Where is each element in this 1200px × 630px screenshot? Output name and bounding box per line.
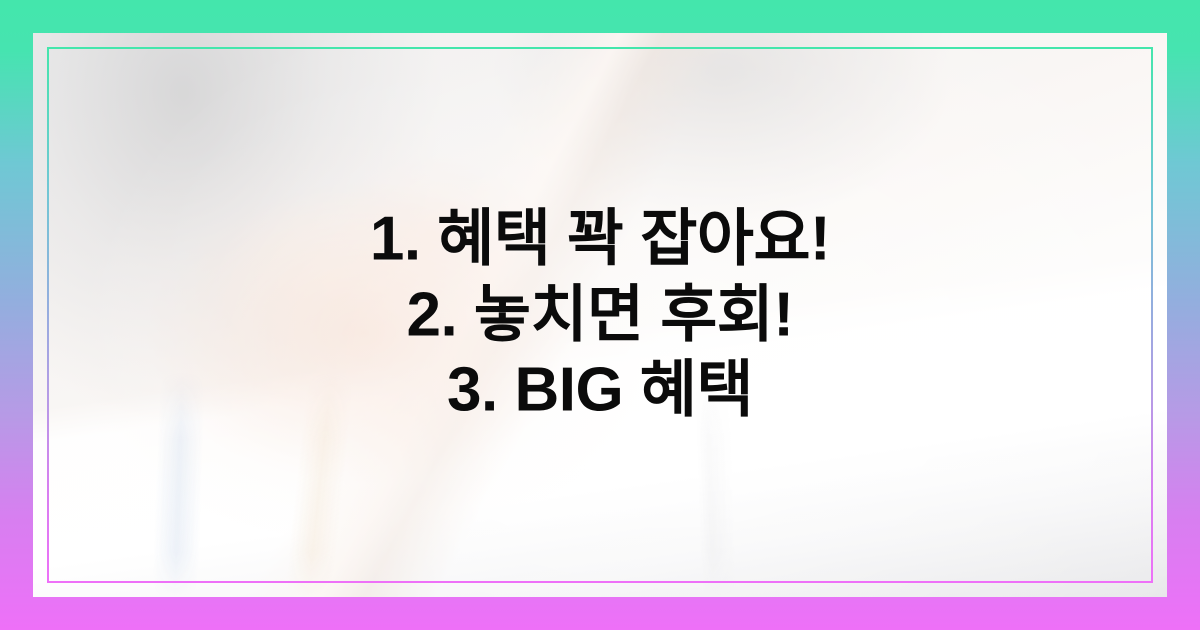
headline-line-1: 1. 혜택 꽉 잡아요!: [70, 202, 1130, 278]
headline-line-2: 2. 놓치면 후회!: [70, 277, 1130, 353]
headline-line-3: 3. BIG 혜택: [70, 353, 1130, 429]
promo-card: 1. 혜택 꽉 잡아요! 2. 놓치면 후회! 3. BIG 혜택: [0, 0, 1200, 630]
headline-block: 1. 혜택 꽉 잡아요! 2. 놓치면 후회! 3. BIG 혜택: [0, 202, 1200, 429]
